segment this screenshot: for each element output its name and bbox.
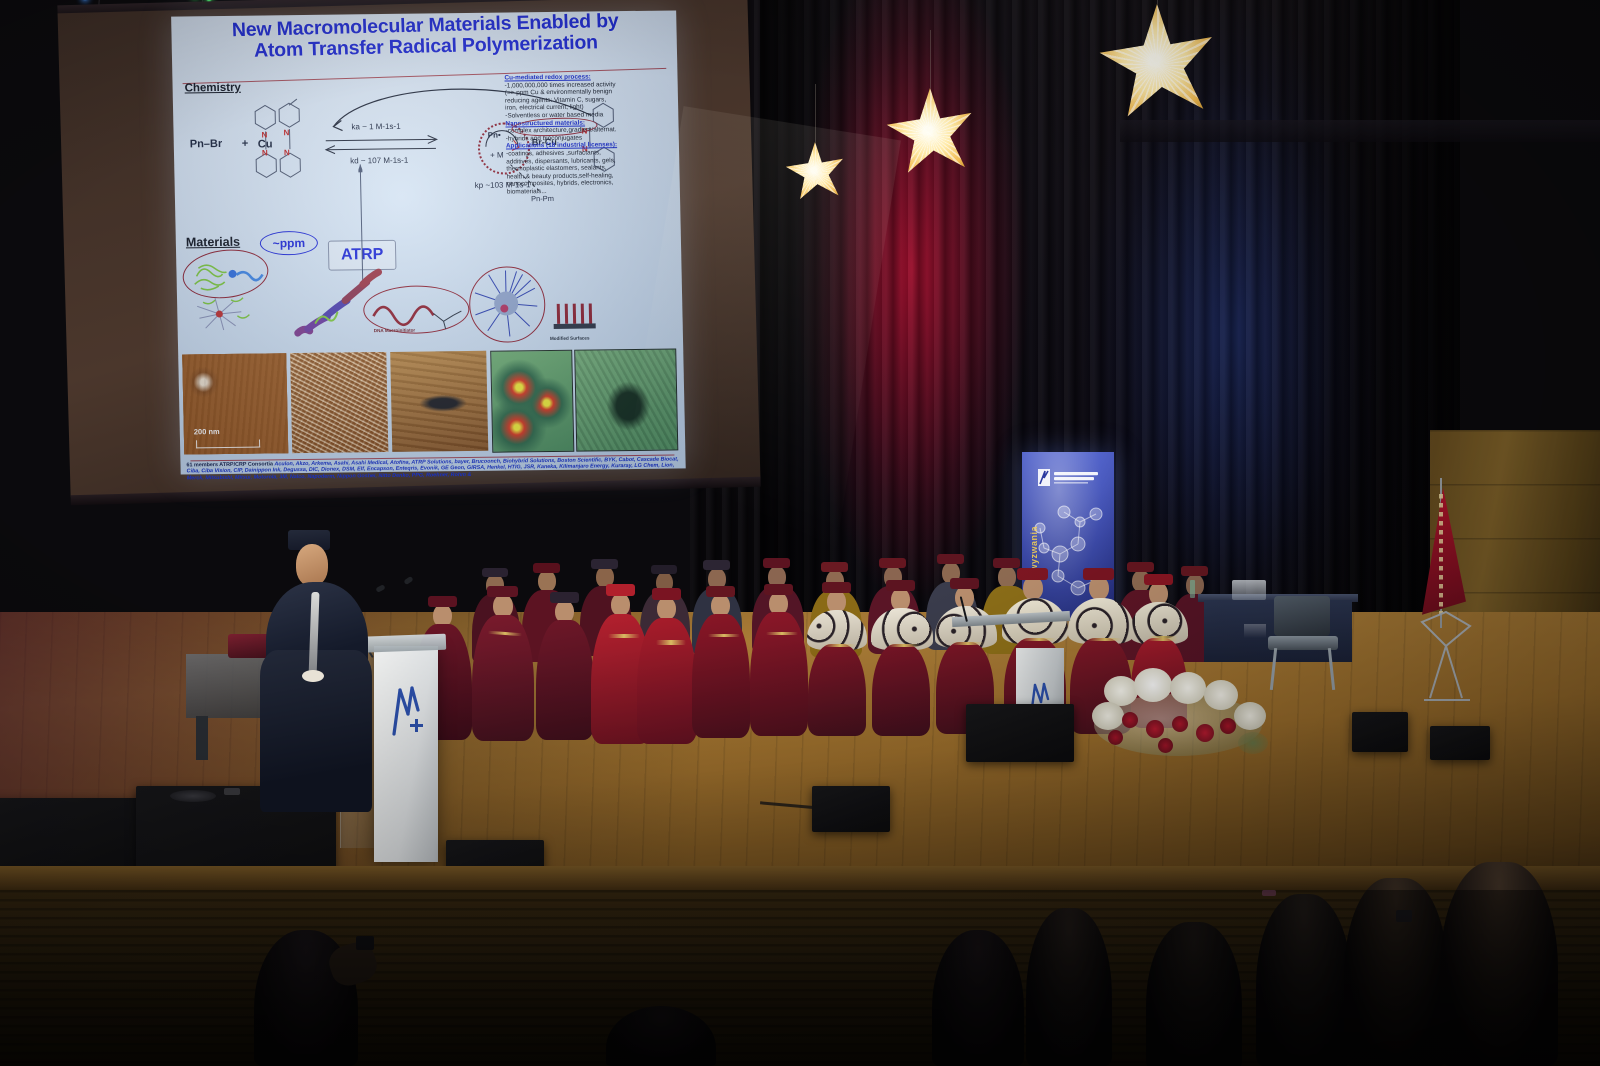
table-logo: [1244, 624, 1266, 638]
svg-text:N: N: [262, 130, 268, 139]
chair-leg: [196, 716, 208, 760]
flag-stand: [1412, 606, 1482, 706]
stage-chair: [1268, 596, 1342, 692]
svg-text:N: N: [262, 148, 268, 157]
hanging-star-small: [784, 142, 846, 204]
slide-title: New Macromolecular Materials Enabled by …: [187, 10, 664, 64]
equilibrium-arrows: [324, 133, 442, 156]
dna-wave-graphic: [369, 295, 466, 330]
table-documents: [1232, 580, 1266, 600]
afm-image-2: [290, 352, 388, 453]
flower-arrangement: [1088, 668, 1278, 764]
protein-polymer-conjugate: [188, 253, 275, 298]
monomer-addition: + M: [490, 151, 504, 160]
pit-shadow: [0, 890, 1600, 1066]
equation-reactant: Pn–Br: [190, 138, 223, 150]
heatmap-image-4: [490, 350, 574, 453]
presentation-slide: New Macromolecular Materials Enabled by …: [171, 10, 686, 474]
star-body: [784, 142, 846, 204]
lectern-logo: [386, 680, 426, 740]
stage-monitor-mid: [812, 786, 890, 832]
modified-surfaces-label: Modified Surfaces: [550, 336, 590, 341]
projection-screen: New Macromolecular Materials Enabled by …: [57, 0, 760, 505]
lectern: [374, 646, 438, 862]
rate-constant-activation: ka ~ 1 M-1s-1: [351, 122, 400, 132]
speaker-head: [296, 544, 328, 586]
flag-cloth: [1422, 488, 1466, 620]
university-logo-mark: [1038, 468, 1100, 488]
afm-scale-text: 200 nm: [194, 427, 220, 436]
star-body: [884, 88, 976, 180]
modified-surface-graphic: [549, 293, 602, 334]
app-b13: biomaterials...: [507, 186, 675, 196]
afm-image-3: [390, 351, 488, 452]
afm-image-1: 200 nm: [182, 353, 288, 454]
stage-monitor-edge-2: [1430, 726, 1490, 760]
auditorium-photo: New Macromolecular Materials Enabled by …: [0, 0, 1600, 1066]
copper-ligand-structure: N N N N: [245, 97, 319, 194]
star-cord: [1157, 0, 1158, 4]
star-cord: [930, 30, 931, 88]
stage-monitor-far: [966, 704, 1074, 762]
speaker-hand: [302, 670, 324, 682]
svg-text:N: N: [283, 128, 289, 137]
radical-species: Pn•: [488, 131, 501, 140]
star-body: [1096, 4, 1218, 126]
nanoparticle-brush-graphic: [470, 268, 541, 339]
stage-monitor-edge: [1352, 712, 1408, 752]
star-cord: [815, 84, 816, 142]
section-label-chemistry: Chemistry: [185, 82, 241, 95]
svg-text:N: N: [284, 148, 290, 157]
banner-vertical-word: wyzwania: [1029, 526, 1039, 572]
section-label-materials: Materials: [186, 235, 240, 250]
water-bottle: [1190, 580, 1195, 598]
afm-scale-bar: [196, 440, 260, 449]
star-polymer-graphic: [189, 293, 274, 336]
hanging-star-medium: [884, 88, 976, 180]
hanging-star-large: [1096, 4, 1218, 126]
ppm-bubble: ~ppm: [260, 231, 319, 256]
dna-label: DNA Macroinitiator: [374, 328, 416, 334]
ceremonial-flag: [1412, 478, 1482, 708]
flag-trim: [1439, 494, 1443, 614]
heatmap-image-5: [574, 348, 678, 451]
